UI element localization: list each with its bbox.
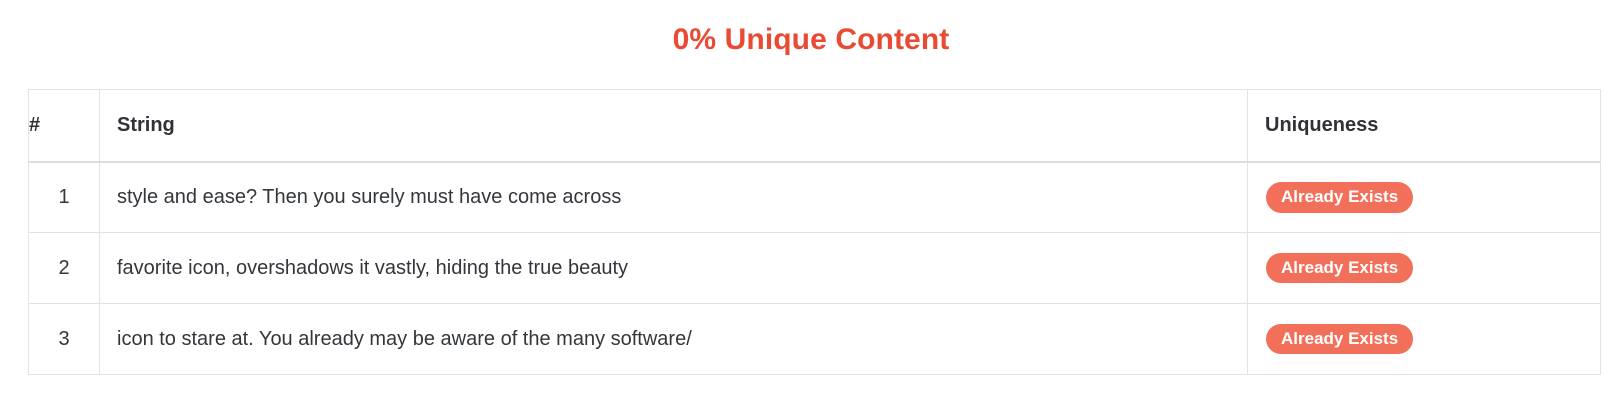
row-index: 3 — [29, 304, 100, 375]
table-body: 1 style and ease? Then you surely must h… — [29, 162, 1601, 375]
table-row: 1 style and ease? Then you surely must h… — [29, 162, 1601, 233]
row-index: 2 — [29, 233, 100, 304]
page-title: 0% Unique Content — [0, 0, 1622, 58]
table-row: 3 icon to stare at. You already may be a… — [29, 304, 1601, 375]
uniqueness-table: # String Uniqueness 1 style and ease? Th… — [28, 89, 1601, 375]
column-header-uniqueness: Uniqueness — [1248, 90, 1601, 162]
status-badge: Already Exists — [1266, 253, 1413, 284]
status-badge: Already Exists — [1266, 324, 1413, 355]
table-header: # String Uniqueness — [29, 90, 1601, 162]
row-index: 1 — [29, 162, 100, 233]
column-header-index: # — [29, 90, 100, 162]
uniqueness-table-container: # String Uniqueness 1 style and ease? Th… — [28, 89, 1594, 375]
uniqueness-report-page: 0% Unique Content # String Uniqueness 1 … — [0, 0, 1622, 414]
row-uniqueness: Already Exists — [1248, 233, 1601, 304]
table-row: 2 favorite icon, overshadows it vastly, … — [29, 233, 1601, 304]
row-uniqueness: Already Exists — [1248, 162, 1601, 233]
row-string: icon to stare at. You already may be awa… — [100, 304, 1248, 375]
row-uniqueness: Already Exists — [1248, 304, 1601, 375]
status-badge: Already Exists — [1266, 182, 1413, 213]
row-string: favorite icon, overshadows it vastly, hi… — [100, 233, 1248, 304]
row-string: style and ease? Then you surely must hav… — [100, 162, 1248, 233]
table-header-row: # String Uniqueness — [29, 90, 1601, 162]
column-header-string: String — [100, 90, 1248, 162]
